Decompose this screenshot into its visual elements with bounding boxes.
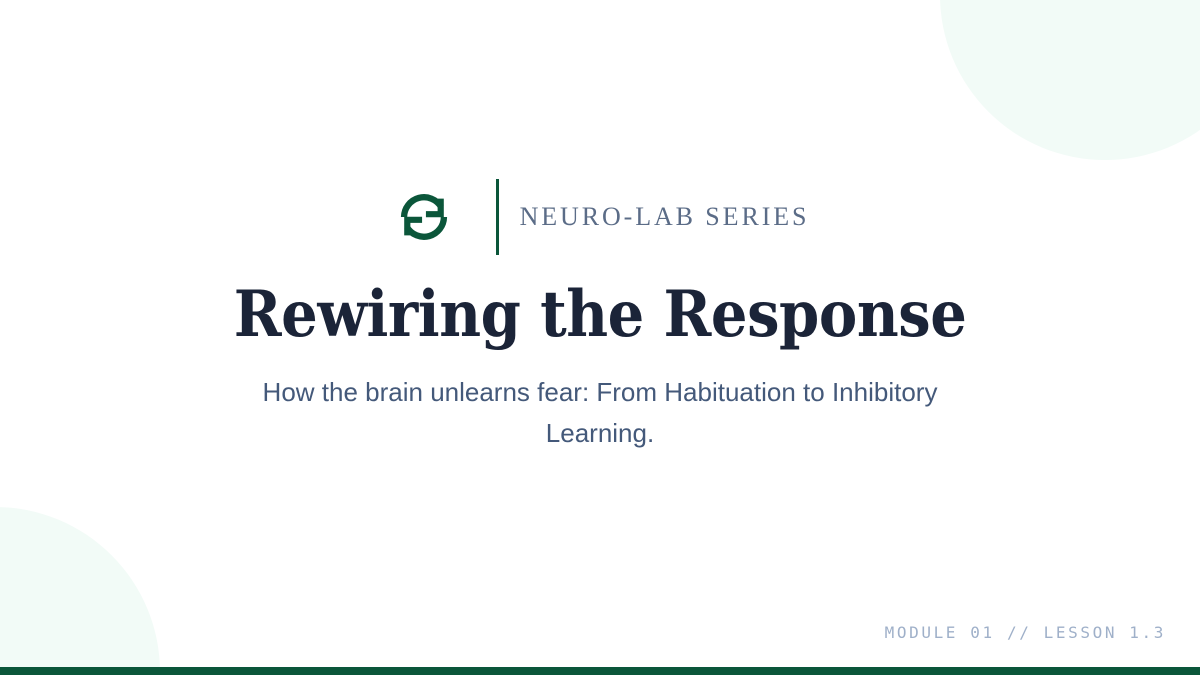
bottom-accent-bar <box>0 667 1200 675</box>
refresh-cycle-icon <box>391 184 457 250</box>
page-title: Rewiring the Response <box>234 281 967 348</box>
title-slide: NEURO-LAB SERIES Rewiring the Response H… <box>0 0 1200 675</box>
module-lesson-meta: MODULE 01 // LESSON 1.3 <box>885 623 1166 642</box>
subtitle: How the brain unlearns fear: From Habitu… <box>245 372 955 454</box>
brand-lockup: NEURO-LAB SERIES <box>391 179 810 255</box>
eyebrow-divider <box>496 179 499 255</box>
series-label: NEURO-LAB SERIES <box>520 204 810 230</box>
slide-content: NEURO-LAB SERIES Rewiring the Response H… <box>0 0 1200 675</box>
